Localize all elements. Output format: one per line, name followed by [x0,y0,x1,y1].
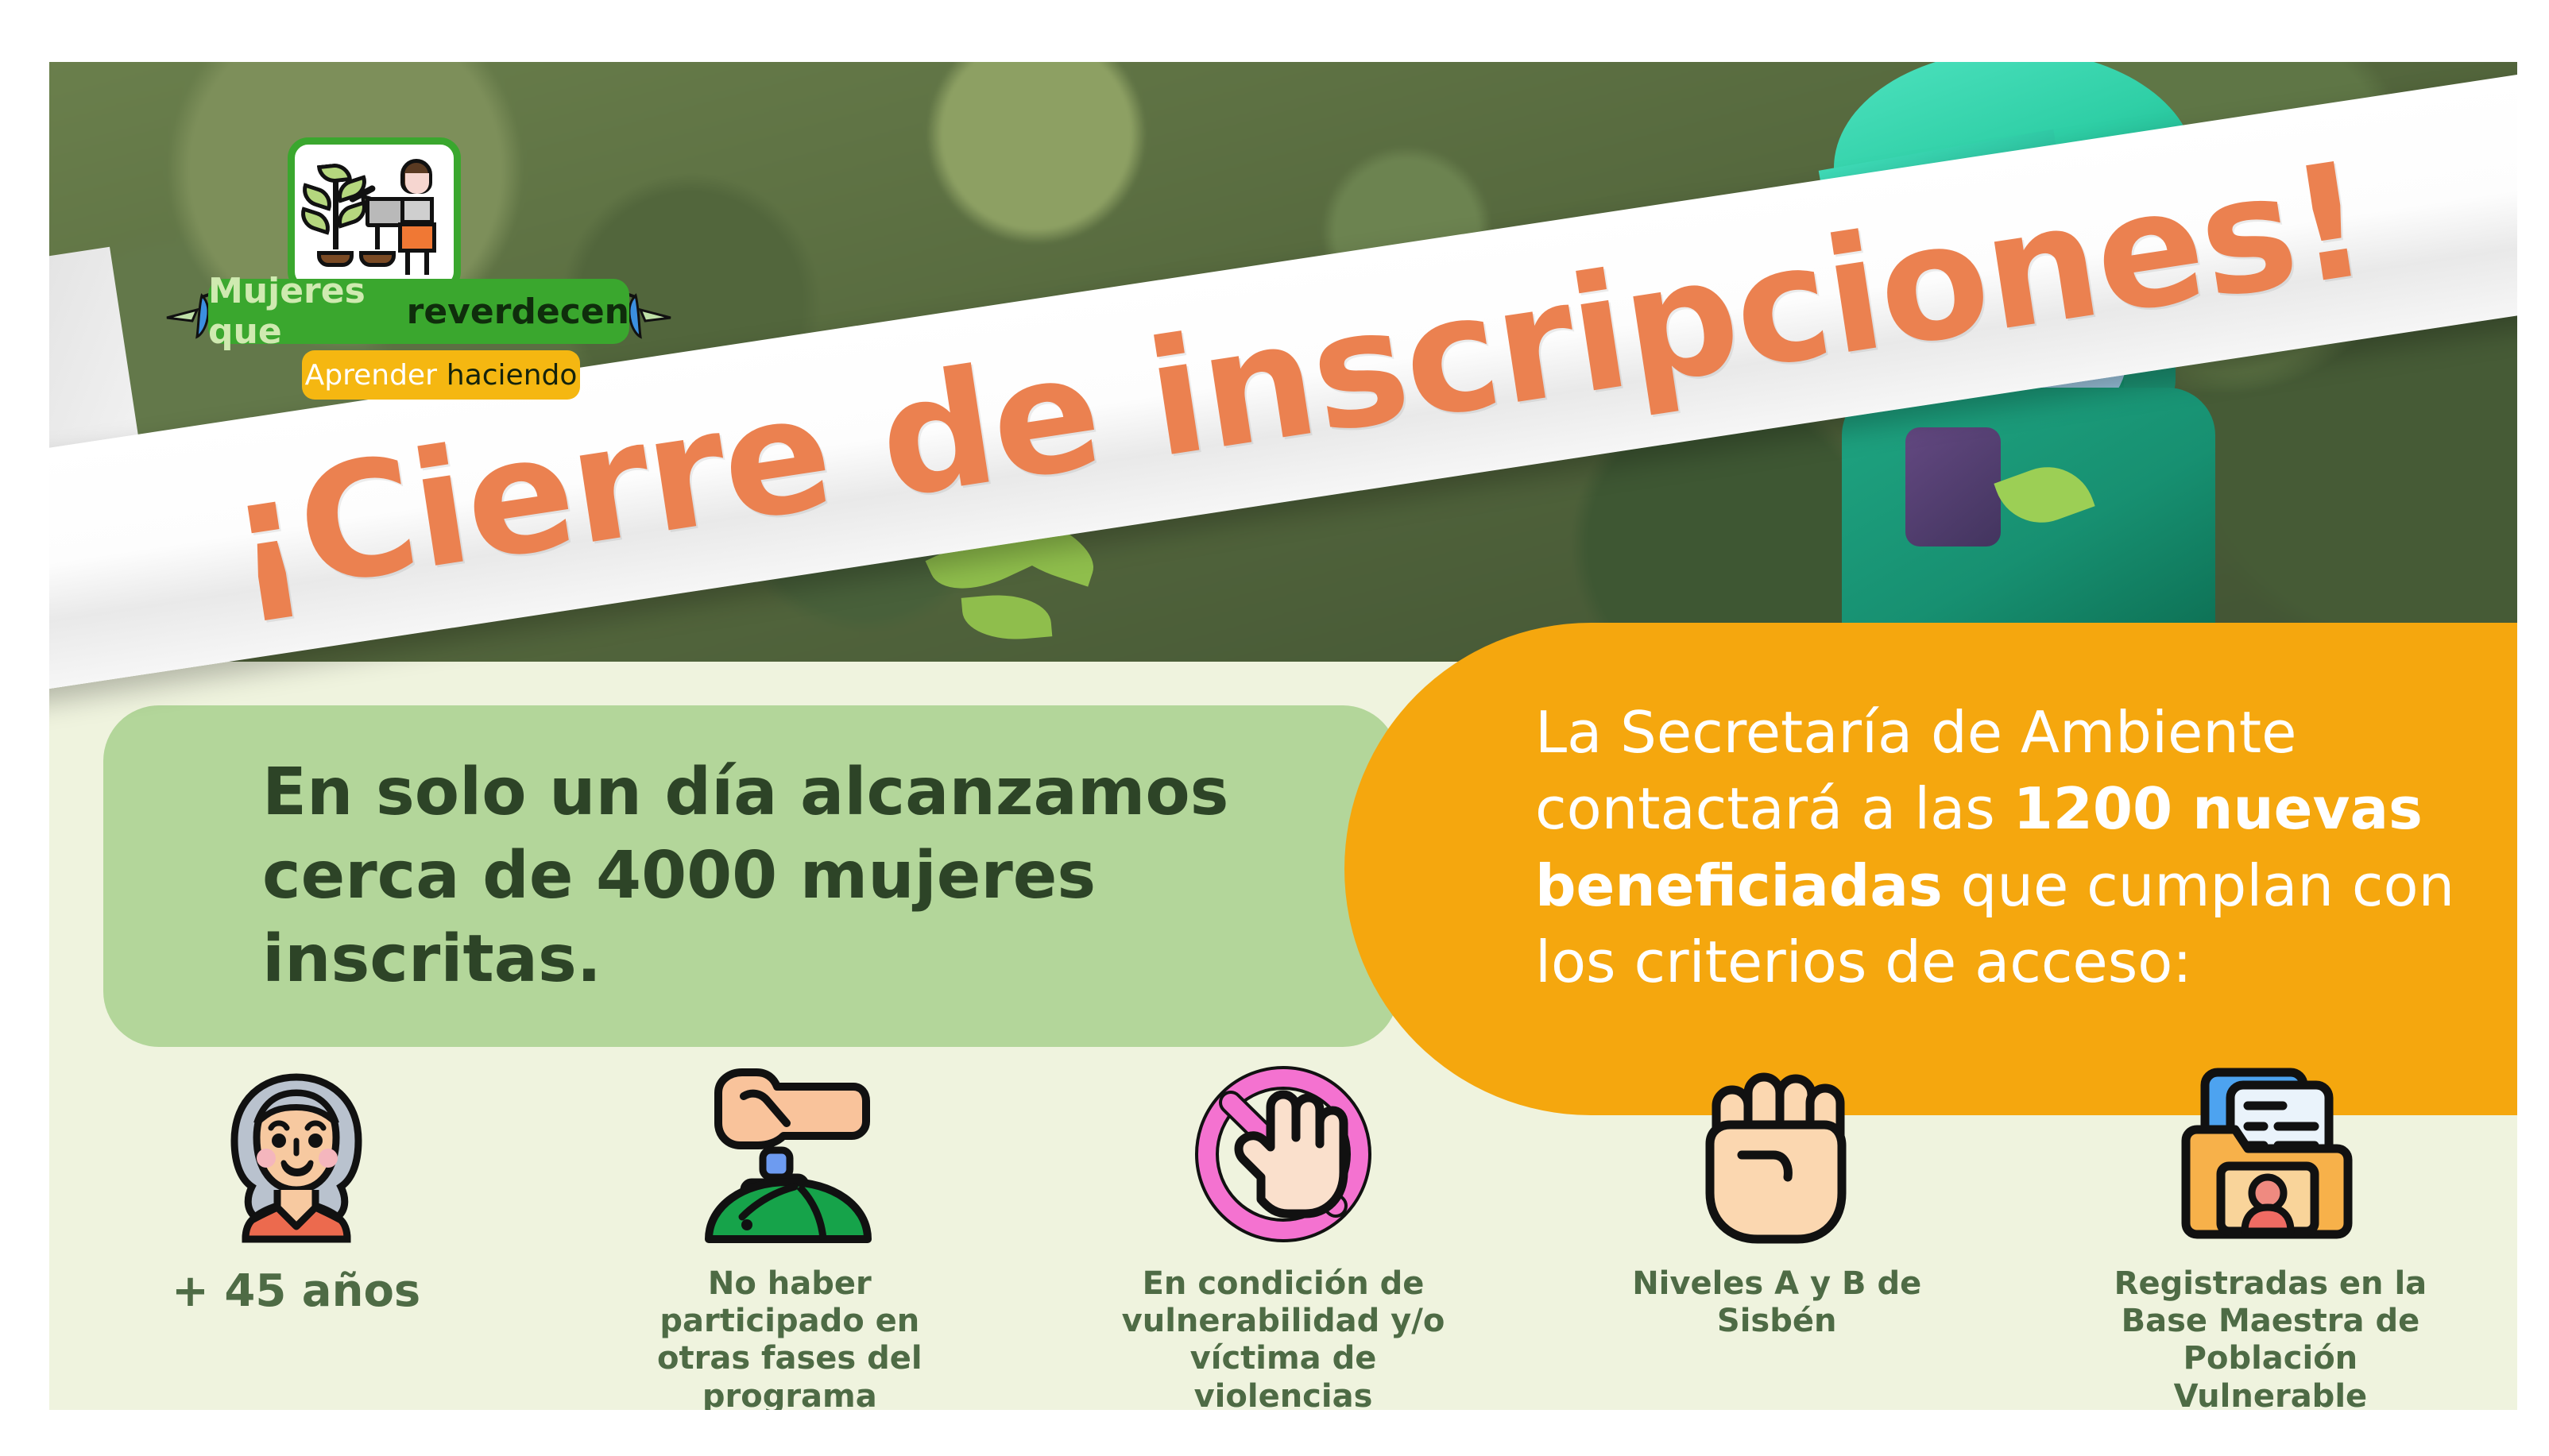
criteria-label-no-prior-phase: No haber participado en otras fases del … [619,1265,961,1410]
logo-subtitle-bar: Aprender haciendo [302,350,580,400]
hand-sowing-seeds-icon [694,1061,885,1248]
logo-subtitle-part1: Aprender [305,359,437,392]
logo-title-bar: Mujeres que reverdecen [208,279,629,344]
green-highlight-number: 4000 [596,838,777,913]
logo-title-part2: reverdecen [407,292,629,332]
criteria-label-sisben: Niveles A y B de Sisbén [1606,1265,1948,1340]
logo-badge [288,137,461,292]
criteria-item-no-prior-phase: No haber participado en otras fases del … [543,1061,1036,1395]
criteria-label-registry: Registradas en la Base Maestra de Poblac… [2099,1265,2441,1410]
criteria-label-age: + 45 años [172,1265,420,1318]
info-card-text: La Secretaría de Ambiente contactará a l… [1535,694,2512,1001]
woman-watering-plants-icon [307,156,442,275]
logo-subtitle-part2: haciendo [447,359,578,392]
stat-card-text: En solo un día alcanzamos cerca de 4000 … [262,751,1359,1002]
program-logo: Mujeres que reverdecen Aprender haciendo [208,137,653,455]
elderly-woman-icon [201,1061,392,1248]
folder-records-icon [2175,1061,2365,1248]
criteria-item-vulnerability: En condición de vulnerabilidad y/o vícti… [1036,1061,1530,1395]
criteria-row: + 45 años No haber participado en otras … [49,1061,2517,1395]
criteria-item-registry: Registradas en la Base Maestra de Poblac… [2024,1061,2517,1395]
no-violence-stop-hand-icon [1188,1061,1379,1248]
shoulder-patch [1905,427,2001,546]
stat-card-green: En solo un día alcanzamos cerca de 4000 … [103,705,1398,1047]
logo-title-part1: Mujeres que [208,271,396,352]
info-card-orange: La Secretaría de Ambiente contactará a l… [1344,623,2517,1115]
criteria-label-vulnerability: En condición de vulnerabilidad y/o vícti… [1112,1265,1454,1410]
poster-root: ¡Cierre de inscripciones! [49,62,2517,1410]
criteria-item-sisben: Niveles A y B de Sisbén [1530,1061,2024,1395]
criteria-item-age: + 45 años [49,1061,543,1395]
raised-fist-icon [1681,1061,1872,1248]
